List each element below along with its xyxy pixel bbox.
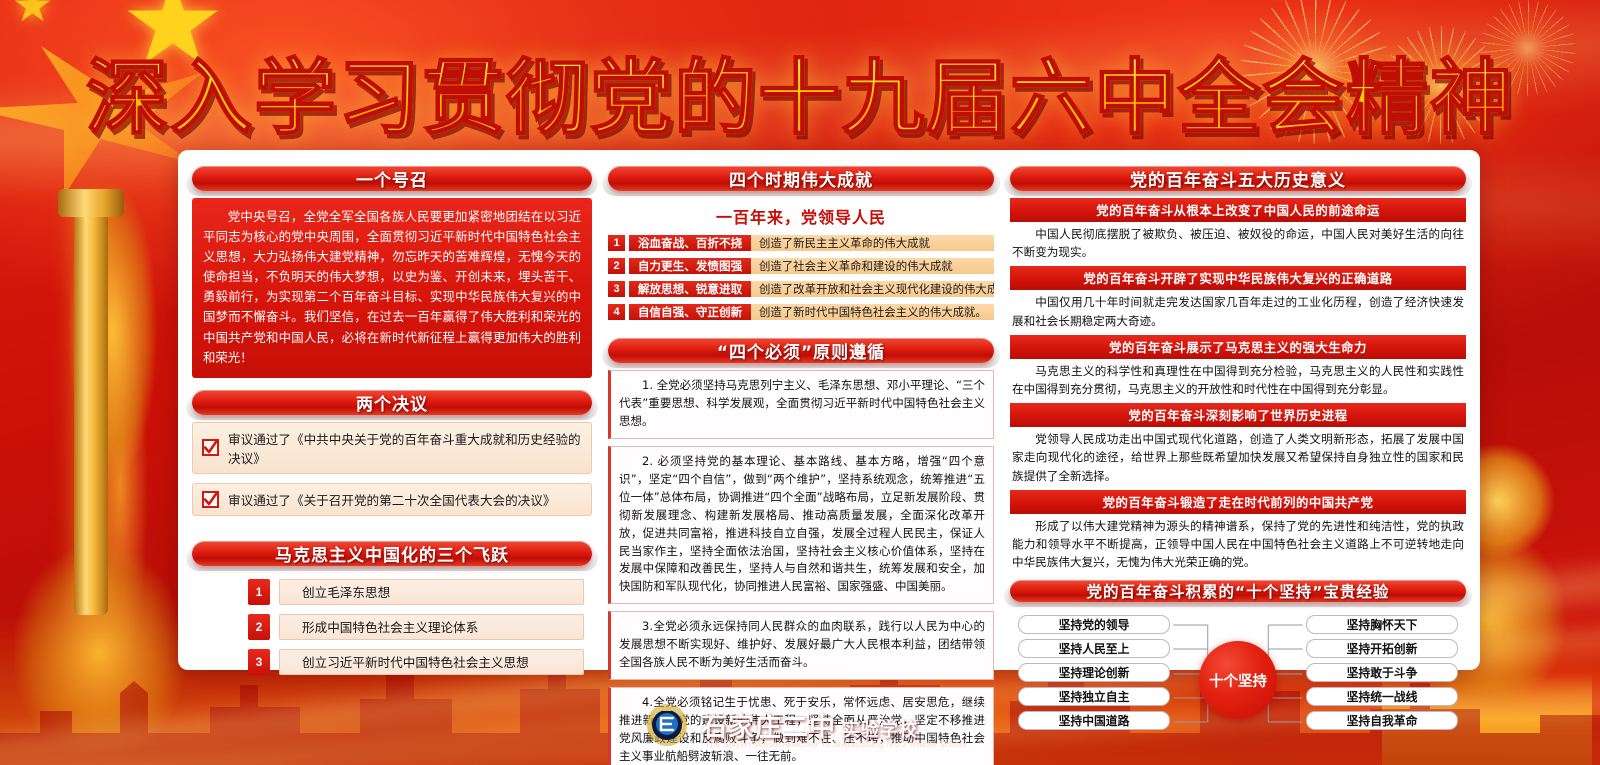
leap-item: 2 形成中国特色社会主义理论体系 [248, 614, 584, 640]
significance-item: 党的百年奋斗展示了马克思主义的强大生命力 马克思主义的科学性和真理性在中国得到充… [1010, 335, 1466, 403]
leap-item-label: 创立毛泽东思想 [279, 579, 584, 605]
school-name-english: The Shiyan School Attached To Shijiazhua… [705, 739, 967, 749]
flag-star-small-icon: ★ [12, 0, 53, 28]
right-column: 党的百年奋斗五大历史意义 党的百年奋斗从根本上改变了中国人民的前途命运 中国人民… [1010, 162, 1466, 660]
section-heading-two-resolutions: 两个决议 [192, 390, 592, 415]
achievement-number: 4 [608, 304, 625, 320]
achievements-subheading: 一百年来，党领导人民 [608, 204, 994, 228]
significance-item: 党的百年奋斗深刻影响了世界历史进程 党领导人民成功走出中国式现代化道路，创造了人… [1010, 403, 1466, 490]
section-heading-ten-adherences: 党的百年奋斗积累的“十个坚持”宝贵经验 [1010, 580, 1466, 602]
resolution-item: 审议通过了《关于召开党的第二十次全国代表大会的决议》 [192, 483, 592, 516]
achievement-value: 创造了新时代中国特色社会主义的伟大成就。 [751, 304, 994, 320]
achievement-value: 创造了改革开放和社会主义现代化建设的伟大成就 [751, 281, 994, 297]
resolution-item-label: 审议通过了《中共中央关于党的百年奋斗重大成就和历史经验的决议》 [228, 429, 582, 467]
significance-item-body: 形成了以伟大建党精神为源头的精神谱系，保持了党的先进性和纯洁性，党的执政能力和领… [1010, 517, 1466, 577]
significance-item-heading: 党的百年奋斗锻造了走在时代前列的中国共产党 [1010, 490, 1466, 514]
section-heading-four-achievements: 四个时期伟大成就 [608, 166, 994, 191]
checkbox-checked-icon [202, 439, 219, 456]
section-heading-one-call: 一个号召 [192, 166, 592, 191]
significance-item-heading: 党的百年奋斗深刻影响了世界历史进程 [1010, 403, 1466, 427]
achievement-number: 3 [608, 281, 625, 297]
gold-column-capital-decoration [58, 189, 124, 217]
achievement-number: 2 [608, 258, 625, 274]
school-name-sub: 实验学校 [842, 720, 918, 741]
content-panel: 一个号召 党中央号召，全党全军全国各族人民要更加紧密地团结在以习近平同志为核心的… [178, 150, 1480, 670]
achievement-row: 1 浴血奋战、百折不挠 创造了新民主主义革命的伟大成就 [608, 235, 994, 251]
page-title: 深入学习贯彻党的十九届六中全会精神 [86, 31, 1514, 150]
leap-item: 3 创立习近平新时代中国特色社会主义思想 [248, 649, 584, 675]
significance-item-body: 中国人民彻底摆脱了被欺负、被压迫、被奴役的命运，中国人民对美好生活的向往不断变为… [1010, 225, 1466, 266]
must-item: 1. 全党必须坚持马克思列宁主义、毛泽东思想、邓小平理论、“三个代表”重要思想、… [608, 370, 994, 439]
school-logo-footer: 石家庄二中实验学校 The Shiyan School Attached To … [643, 699, 973, 751]
achievement-key: 自信自强、守正创新 [629, 304, 751, 320]
achievement-value: 创造了新民主主义革命的伟大成就 [751, 235, 994, 251]
resolution-item-label: 审议通过了《关于召开党的第二十次全国代表大会的决议》 [228, 490, 555, 509]
significance-item-body: 马克思主义的科学性和真理性在中国得到充分检验，马克思主义的人民性和实践性在中国得… [1010, 362, 1466, 403]
section-heading-four-musts: “四个必须”原则遵循 [608, 338, 994, 363]
one-call-body-text: 党中央号召，全党全军全国各族人民要更加紧密地团结在以习近平同志为核心的党中央周围… [192, 198, 592, 378]
achievement-key: 浴血奋战、百折不挠 [629, 235, 751, 251]
significance-item-heading: 党的百年奋斗开辟了实现中华民族伟大复兴的正确道路 [1010, 266, 1466, 290]
leap-item-label: 形成中国特色社会主义理论体系 [279, 614, 584, 640]
significance-item-heading: 党的百年奋斗展示了马克思主义的强大生命力 [1010, 335, 1466, 359]
achievement-row: 3 解放思想、锐意进取 创造了改革开放和社会主义现代化建设的伟大成就 [608, 281, 994, 297]
achievement-row: 4 自信自强、守正创新 创造了新时代中国特色社会主义的伟大成就。 [608, 304, 994, 320]
significance-item: 党的百年奋斗从根本上改变了中国人民的前途命运 中国人民彻底摆脱了被欺负、被压迫、… [1010, 198, 1466, 266]
significance-item: 党的百年奋斗锻造了走在时代前列的中国共产党 形成了以伟大建党精神为源头的精神谱系… [1010, 490, 1466, 577]
achievement-key: 解放思想、锐意进取 [629, 281, 751, 297]
school-name: 石家庄二中实验学校 [701, 707, 918, 744]
achievement-number: 1 [608, 235, 625, 251]
significance-item-heading: 党的百年奋斗从根本上改变了中国人民的前途命运 [1010, 198, 1466, 222]
school-crest-icon [643, 701, 691, 749]
achievement-key: 自力更生、发愤图强 [629, 258, 751, 274]
achievement-row: 2 自力更生、发愤图强 创造了社会主义革命和建设的伟大成就 [608, 258, 994, 274]
leap-item-number: 1 [248, 579, 270, 605]
section-heading-three-leaps: 马克思主义中国化的三个飞跃 [192, 541, 592, 566]
resolution-item: 审议通过了《中共中央关于党的百年奋斗重大成就和历史经验的决议》 [192, 422, 592, 474]
school-name-main: 石家庄二中 [701, 713, 836, 743]
must-item: 3.全党必须永远保持同人民群众的血肉联系，践行以人民为中心的发展思想不断实现好、… [608, 611, 994, 680]
poster-title-banner: 深入学习贯彻党的十九届六中全会精神 [0, 34, 1600, 146]
ten-adherences-center-label: 十个坚持 [1199, 641, 1277, 719]
leap-item-label: 创立习近平新时代中国特色社会主义思想 [279, 649, 584, 675]
leap-item-number: 3 [248, 649, 270, 675]
leap-item: 1 创立毛泽东思想 [248, 579, 584, 605]
left-column: 一个号召 党中央号召，全党全军全国各族人民要更加紧密地团结在以习近平同志为核心的… [192, 162, 592, 660]
significance-item-body: 中国仅用几十年时间就走完发达国家几百年走过的工业化历程，创造了经济快速发展和社会… [1010, 293, 1466, 334]
significance-item: 党的百年奋斗开辟了实现中华民族伟大复兴的正确道路 中国仅用几十年时间就走完发达国… [1010, 266, 1466, 334]
section-heading-five-significances: 党的百年奋斗五大历史意义 [1010, 166, 1466, 191]
significance-item-body: 党领导人民成功走出中国式现代化道路，创造了人类文明新形态，拓展了发展中国家走向现… [1010, 430, 1466, 490]
checkbox-checked-icon [202, 491, 219, 508]
leap-item-number: 2 [248, 614, 270, 640]
gold-column-decoration [74, 195, 108, 615]
achievement-value: 创造了社会主义革命和建设的伟大成就 [751, 258, 994, 274]
middle-column: 四个时期伟大成就 一百年来，党领导人民 1 浴血奋战、百折不挠 创造了新民主主义… [608, 162, 994, 660]
ten-adherences-diagram: 坚持党的领导 坚持人民至上 坚持理论创新 坚持独立自主 坚持中国道路 十个坚持 … [1010, 615, 1466, 660]
must-item: 2. 必须坚持党的基本理论、基本路线、基本方略，增强“四个意识”，坚定“四个自信… [608, 446, 994, 605]
